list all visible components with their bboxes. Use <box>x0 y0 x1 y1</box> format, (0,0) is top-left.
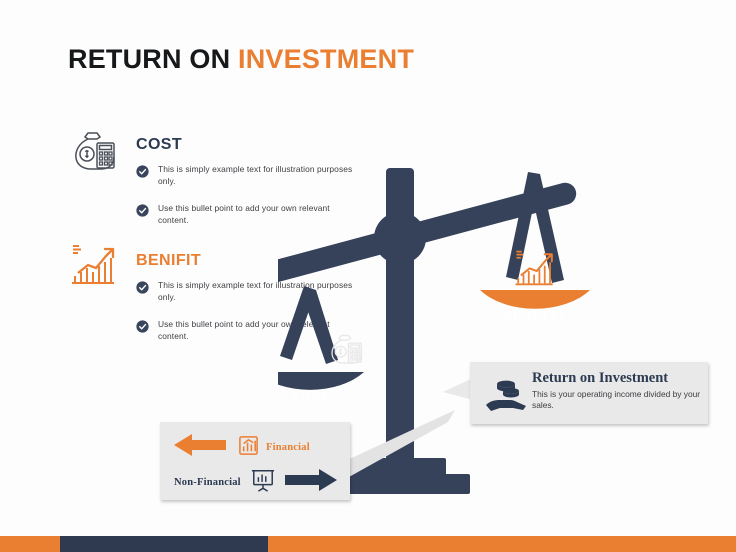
growth-bar-chart-icon <box>68 240 120 288</box>
section-benefit: BENIFIT This is simply example text for … <box>68 240 298 350</box>
scale-pan-benefit-label: BENEFIT <box>480 307 590 323</box>
page-title: RETURN ON INVESTMENT <box>68 44 414 75</box>
check-circle-icon <box>136 165 149 178</box>
scale-pan-cost-label: COST <box>256 390 364 405</box>
page-title-part2: INVESTMENT <box>238 44 414 74</box>
page-title-part1: RETURN ON <box>68 44 230 74</box>
presentation-chart-icon <box>251 468 275 497</box>
scale-pan-cost <box>278 372 364 390</box>
section-cost: COST This is simply example text for ill… <box>68 124 298 234</box>
pan-benefit-growth-icon <box>512 246 558 290</box>
section-cost-heading: COST <box>136 136 182 154</box>
check-circle-icon <box>136 320 149 333</box>
callout-roi-body: This is your operating income divided by… <box>532 389 702 411</box>
callout-financial-label-top: Financial <box>266 442 310 453</box>
left-arrow-icon <box>174 434 226 461</box>
callout-roi-title: Return on Investment <box>532 370 668 387</box>
callout-financial[interactable]: Financial Non-Financial <box>160 422 350 500</box>
check-circle-icon <box>136 281 149 294</box>
pan-cost-money-icon <box>326 328 366 368</box>
callout-return-on-investment[interactable]: Return on Investment This is your operat… <box>470 362 708 424</box>
bar-chart-icon <box>238 435 259 461</box>
callout-financial-row-top: Financial <box>174 434 310 461</box>
footer-bar-navy <box>60 536 268 552</box>
slide-canvas: RETURN ON INVESTMENT <box>0 0 736 552</box>
callout-roi-tail <box>443 378 473 400</box>
right-arrow-icon <box>285 469 337 496</box>
section-benefit-heading: BENIFIT <box>136 252 201 270</box>
callout-financial-label-bottom: Non-Financial <box>174 477 241 488</box>
scale-pan-benefit <box>480 290 590 309</box>
check-circle-icon <box>136 204 149 217</box>
hand-holding-coins-icon <box>484 376 528 412</box>
callout-financial-row-bottom: Non-Financial <box>174 468 337 497</box>
money-bag-calculator-icon <box>68 124 120 172</box>
